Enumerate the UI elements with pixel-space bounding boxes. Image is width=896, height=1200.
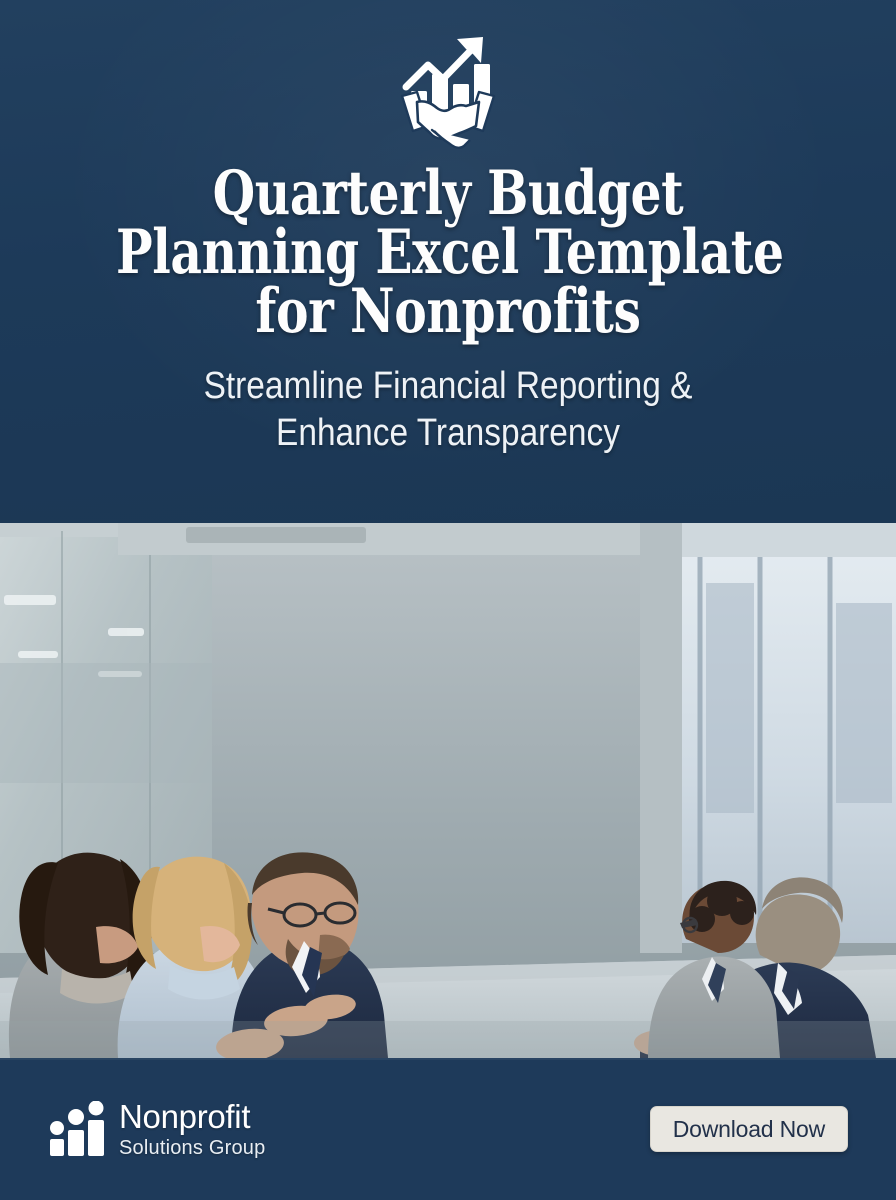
footer-bar: Nonprofit Solutions Group Download Now [0,1058,896,1200]
handshake-growth-chart-icon [390,30,506,158]
title-line-2: Planning Excel Template [116,223,780,282]
page-subtitle: Streamline Financial Reporting & Enhance… [114,363,783,456]
three-people-bar-chart-icon [48,1101,106,1157]
brand-tagline: Solutions Group [119,1138,265,1158]
hero-header: Quarterly Budget Planning Excel Template… [0,0,896,523]
poster-page: Quarterly Budget Planning Excel Template… [0,0,896,1200]
brand-text: Nonprofit Solutions Group [119,1100,265,1158]
subtitle-line-2: Enhance Transparency [114,410,783,456]
title-line-3: for Nonprofits [116,282,780,341]
conference-room-photo [0,523,896,1058]
subtitle-line-1: Streamline Financial Reporting & [114,363,783,409]
brand-logo[interactable]: Nonprofit Solutions Group [48,1100,265,1158]
download-now-button[interactable]: Download Now [650,1106,848,1152]
title-line-1: Quarterly Budget [116,164,780,223]
page-title: Quarterly Budget Planning Excel Template… [116,164,780,341]
brand-name: Nonprofit [119,1100,265,1133]
